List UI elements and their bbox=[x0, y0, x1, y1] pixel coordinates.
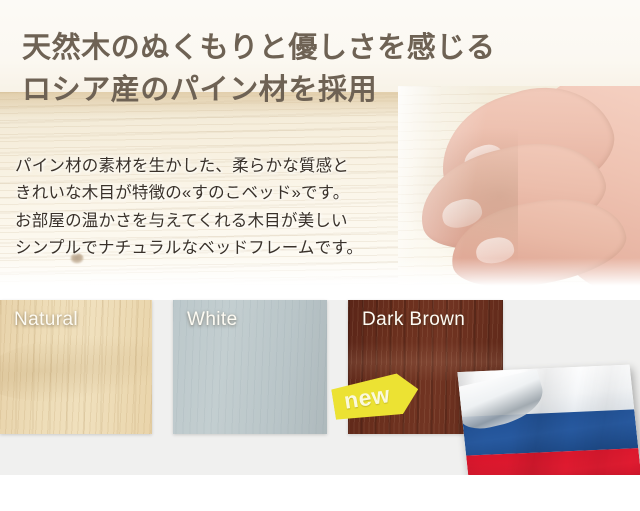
wood-grain-texture bbox=[0, 323, 152, 411]
swatch-label-natural: Natural bbox=[14, 309, 78, 331]
description-text: パイン材の素材を生かした、柔らかな質感と きれいな木目が特徴の«すのこベッド»で… bbox=[15, 153, 435, 263]
bottom-spacer bbox=[0, 475, 640, 511]
swatch-white[interactable]: White bbox=[173, 300, 327, 434]
hero-bottom-fade bbox=[0, 258, 640, 288]
new-badge-label: new bbox=[342, 381, 392, 415]
swatch-natural[interactable]: Natural bbox=[0, 300, 152, 434]
swatch-label-white: White bbox=[187, 309, 238, 331]
swatch-label-dark-brown: Dark Brown bbox=[362, 309, 465, 331]
page-title: 天然木のぬくもりと優しさを感じる ロシア産のパイン材を採用 bbox=[22, 27, 622, 111]
promo-banner: 天然木のぬくもりと優しさを感じる ロシア産のパイン材を採用 パイン材の素材を生か… bbox=[0, 0, 640, 511]
